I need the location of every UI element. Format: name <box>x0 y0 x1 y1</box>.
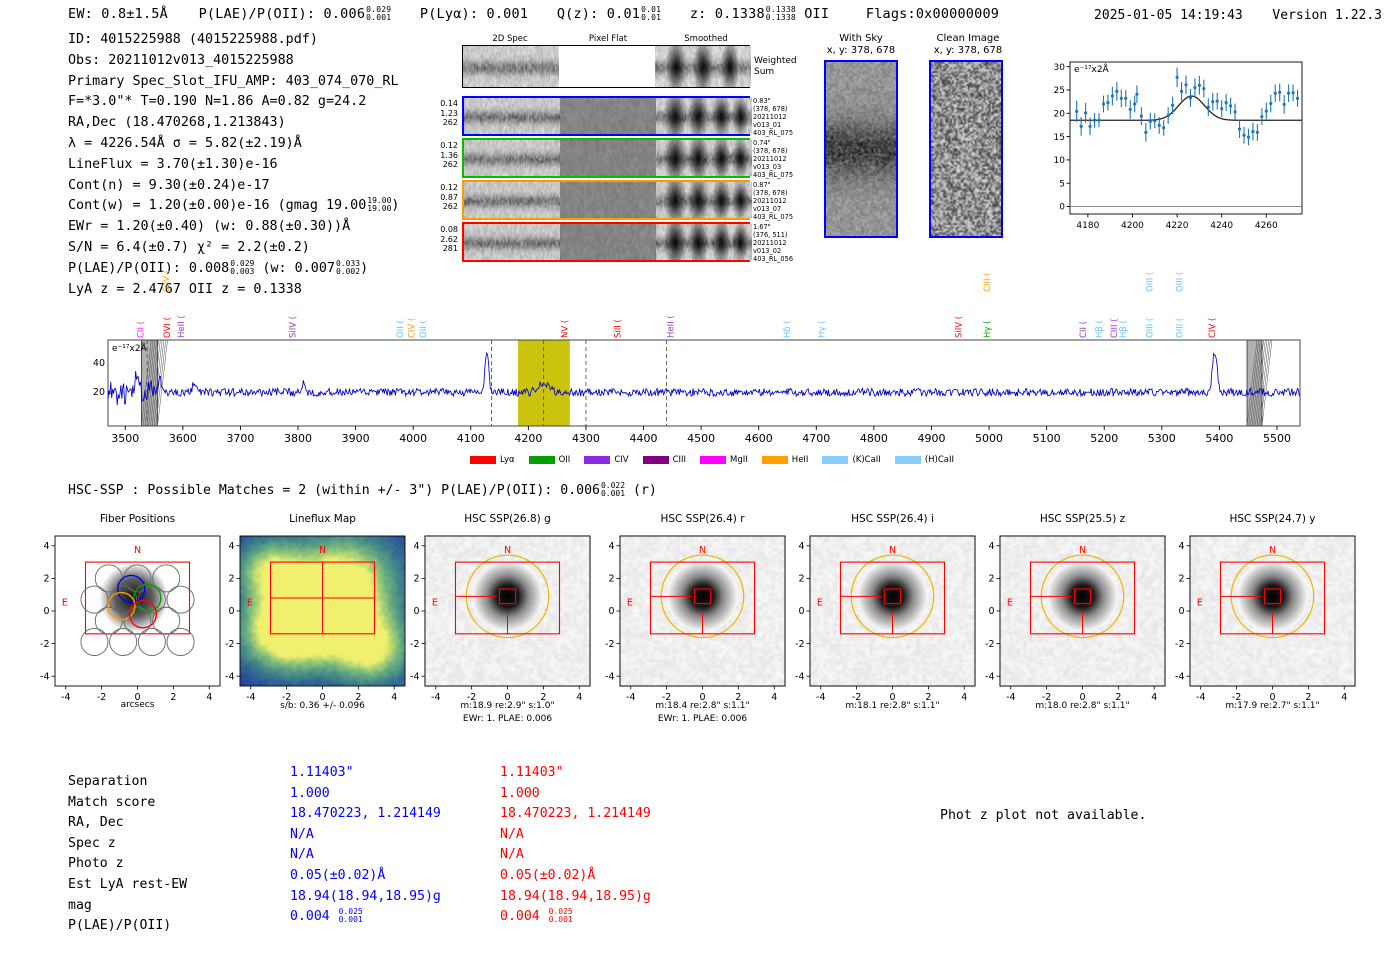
svg-text:E: E <box>817 597 823 608</box>
svg-text:4000: 4000 <box>399 432 427 445</box>
svg-text:-2: -2 <box>795 639 804 650</box>
svg-text:3800: 3800 <box>284 432 312 445</box>
header-z: z: 0.1338 <box>690 6 765 22</box>
match-col2-plae: 0.004 <box>500 909 548 924</box>
legend-label: CIII <box>673 455 686 465</box>
svg-text:HeII (: HeII ( <box>667 315 677 338</box>
photz-unavailable-note: Phot z plot not available. <box>940 808 1146 823</box>
info-lambda-sigma: λ = 4226.54Å σ = 5.82(±2.19)Å <box>68 134 399 155</box>
svg-text:4180: 4180 <box>1076 221 1099 231</box>
legend-item-heii: HeII <box>762 455 809 465</box>
spec2d-row-1-meta-4: 403_RL_075 <box>753 171 793 179</box>
svg-text:e⁻¹⁷x2Å: e⁻¹⁷x2Å <box>1074 63 1110 75</box>
svg-text:3700: 3700 <box>226 432 254 445</box>
svg-text:SiIV (: SiIV ( <box>954 316 964 338</box>
svg-text:-4: -4 <box>410 671 419 682</box>
svg-text:10: 10 <box>1054 156 1066 166</box>
svg-text:5: 5 <box>1059 179 1065 189</box>
with-sky-subtitle: x, y: 378, 678 <box>812 45 910 56</box>
svg-text:4300: 4300 <box>572 432 600 445</box>
match-col1-plae-lo: 0.001 <box>339 916 363 924</box>
svg-text:N: N <box>889 545 896 556</box>
legend-label: CIV <box>614 455 628 465</box>
spec2d-row-3 <box>462 222 750 262</box>
spec2d-row-0-meta-2: 20211012 <box>753 113 793 121</box>
stamp-plot-2: NE-4-4-2-2002244 <box>391 532 602 728</box>
spec2d-row-2-meta-1: (378, 678) <box>753 189 793 197</box>
svg-text:CIII (: CIII ( <box>983 273 993 292</box>
legend-label: HeII <box>792 455 809 465</box>
legend-swatch <box>700 456 726 464</box>
hsc-header-post: (r) <box>633 483 657 498</box>
header-plae-lo: 0.001 <box>366 14 391 22</box>
svg-text:3600: 3600 <box>169 432 197 445</box>
svg-text:N: N <box>1269 545 1276 556</box>
svg-text:-4: -4 <box>985 671 994 682</box>
svg-text:0: 0 <box>43 606 49 617</box>
svg-text:0: 0 <box>988 606 994 617</box>
svg-text:E: E <box>627 597 633 608</box>
stamp-title-1: Lineflux Map <box>230 513 415 525</box>
spec2d-row-2-meta-0: 0.87" <box>753 181 793 189</box>
match-col1-value-5: 0.05(±0.02)Å <box>290 866 385 887</box>
svg-text:-2: -2 <box>40 639 49 650</box>
svg-text:-4: -4 <box>795 671 804 682</box>
spec2d-row-1-meta-2: 20211012 <box>753 155 793 163</box>
match-col2-value-6: 18.94(18.94,18.95)g <box>500 887 651 908</box>
svg-text:4200: 4200 <box>1121 221 1144 231</box>
spec2d-row-1-meta-0: 0.74" <box>753 139 793 147</box>
svg-text:5300: 5300 <box>1148 432 1176 445</box>
header-flags: Flags:0x00000009 <box>866 6 999 22</box>
svg-text:4700: 4700 <box>802 432 830 445</box>
svg-text:E: E <box>247 597 253 608</box>
full-spectrum-plot: 2040350036003700380039004000410042004300… <box>86 268 1306 468</box>
svg-text:5100: 5100 <box>1033 432 1061 445</box>
header-plya: P(Lyα): 0.001 <box>420 6 528 22</box>
legend-label: Lyα <box>500 455 515 465</box>
stamp-plot-5: NE-4-4-2-2002244 <box>966 532 1177 728</box>
spec2d-row-3-left-2: 281 <box>428 244 458 254</box>
svg-text:40: 40 <box>93 358 105 369</box>
svg-text:OIII (: OIII ( <box>1146 272 1156 292</box>
header-summary-line: EW: 0.8±1.5Å P(LAE)/P(OII): 0.0060.0290.… <box>68 6 999 22</box>
svg-text:0: 0 <box>413 606 419 617</box>
match-row-label-4: Photo z <box>68 854 278 875</box>
spec2d-cell-r3-c1 <box>560 224 656 260</box>
svg-text:5000: 5000 <box>975 432 1003 445</box>
legend-label: OII <box>559 455 571 465</box>
spec2d-row-0-meta-3: v013_01 <box>753 121 793 129</box>
spec2d-cell-r0-c1 <box>560 98 656 134</box>
spec2d-row-2-meta-labels: 0.87"(378, 678)20211012v013_07403_RL_075 <box>753 181 793 221</box>
svg-text:E: E <box>1007 597 1013 608</box>
legend-swatch <box>762 456 788 464</box>
match-col1-value-3: N/A <box>290 825 314 846</box>
svg-text:NV (: NV ( <box>561 320 571 338</box>
spec2d-row-2-meta-3: v013_07 <box>753 205 793 213</box>
weighted-sum-line2: Sum <box>754 67 797 78</box>
spec2d-weighted-sum-label: Weighted Sum <box>754 56 797 78</box>
clean-image-title: Clean Image <box>918 33 1018 44</box>
svg-text:Hγ (: Hγ ( <box>983 321 993 338</box>
stamp-plot-6: NE-4-4-2-2002244 <box>1156 532 1367 728</box>
svg-text:-4: -4 <box>40 671 49 682</box>
match-row-label-1: Match score <box>68 793 278 814</box>
spec2d-cell-r3-c2 <box>656 224 752 260</box>
match-col1-value-2: 18.470223, 1.214149 <box>290 804 441 825</box>
spec2d-row-1 <box>462 138 750 178</box>
match-col2-value-7: 0.004 0.0250.001 <box>500 907 573 928</box>
spec2d-row-3-meta-labels: 1.67"(376, 511)20211012v013_02403_RL_056 <box>753 223 793 263</box>
svg-text:0: 0 <box>1178 606 1184 617</box>
match-col2-value-4: N/A <box>500 845 524 866</box>
spec2d-row-2-left-labels: 0.120.87262 <box>428 183 458 212</box>
stamp-caption1-2: m:18.9 re:2.9" s:1.0" <box>403 700 612 712</box>
stamp-plot-4: NE-4-4-2-2002244 <box>776 532 987 728</box>
svg-text:Hβ (: Hβ ( <box>1119 320 1129 338</box>
svg-text:2: 2 <box>43 574 49 585</box>
svg-text:2: 2 <box>1178 574 1184 585</box>
spec2d-row-0-left-1: 1.23 <box>428 109 458 119</box>
info-cont-w: Cont(w) = 1.20(±0.00)e-16 (gmag 19.0019.… <box>68 196 399 217</box>
svg-text:4: 4 <box>43 541 49 552</box>
match-col1-value-6: 18.94(18.94,18.95)g <box>290 887 441 908</box>
stamp-plot-1: NE-4-4-2-2002244 <box>206 532 417 728</box>
svg-text:2: 2 <box>608 574 614 585</box>
svg-text:4400: 4400 <box>630 432 658 445</box>
match-col1-plae: 0.004 <box>290 909 338 924</box>
stamp-xlabel-0: arcsecs <box>45 700 230 710</box>
legend-label: MgII <box>730 455 748 465</box>
svg-text:4200: 4200 <box>514 432 542 445</box>
svg-text:0: 0 <box>608 606 614 617</box>
svg-text:CIV (: CIV ( <box>1208 318 1218 338</box>
spec2d-col-title-pixelflat: Pixel Flat <box>560 34 656 44</box>
info-fwhm-throughput: F=*3.0"* T=0.190 N=1.86 A=0.82 g=24.2 <box>68 92 399 113</box>
legend-swatch <box>584 456 610 464</box>
svg-text:N: N <box>699 545 706 556</box>
info-primary-spec-slot: Primary Spec_Slot_IFU_AMP: 403_074_070_R… <box>68 72 399 93</box>
svg-text:N: N <box>319 545 326 556</box>
svg-text:4: 4 <box>228 541 234 552</box>
legend-swatch <box>643 456 669 464</box>
match-col2-plae-lo: 0.001 <box>549 916 573 924</box>
match-col2-value-1: 1.000 <box>500 784 540 805</box>
source-info-block: ID: 4015225988 (4015225988.pdf) Obs: 202… <box>68 30 399 300</box>
svg-text:4800: 4800 <box>860 432 888 445</box>
spec2d-weighted-cell-0 <box>463 46 559 87</box>
spec2d-weighted-sum-row <box>462 45 750 88</box>
match-row-label-7: P(LAE)/P(OII) <box>68 916 278 937</box>
svg-text:-2: -2 <box>605 639 614 650</box>
svg-text:E: E <box>1197 597 1203 608</box>
svg-text:OII (: OII ( <box>419 320 429 338</box>
match-col2-value-0: 1.11403" <box>500 763 564 784</box>
header-version: Version 1.22.3 <box>1272 8 1382 23</box>
spec2d-row-3-left-labels: 0.082.62281 <box>428 225 458 254</box>
spec2d-cell-r1-c2 <box>656 140 752 176</box>
svg-text:SiIV (: SiIV ( <box>162 270 172 292</box>
svg-text:4240: 4240 <box>1210 221 1233 231</box>
svg-text:5400: 5400 <box>1205 432 1233 445</box>
svg-text:OIII (: OIII ( <box>1176 318 1186 338</box>
legend-swatch <box>895 456 921 464</box>
spec2d-row-1-meta-1: (378, 678) <box>753 147 793 155</box>
info-sn-chi2: S/N = 6.4(±0.7) χ² = 2.2(±0.2) <box>68 238 399 259</box>
svg-text:Hβ (: Hβ ( <box>1095 320 1105 338</box>
info-cont-n: Cont(n) = 9.30(±0.24)e-17 <box>68 176 399 197</box>
emission-line-zoom-plot: 05101520253041804200422042404260e⁻¹⁷x2Å <box>1036 48 1308 244</box>
svg-text:4600: 4600 <box>745 432 773 445</box>
svg-text:N: N <box>134 545 141 556</box>
spec2d-row-1-left-1: 1.36 <box>428 151 458 161</box>
stamp-title-2: HSC SSP(26.8) g <box>415 513 600 525</box>
spec2d-cell-r0-c0 <box>464 98 560 134</box>
match-col1-value-0: 1.11403" <box>290 763 354 784</box>
svg-text:HeII (: HeII ( <box>177 315 187 338</box>
spec2d-cell-r2-c0 <box>464 182 560 218</box>
legend-item-hcaii: (H)CaII <box>895 455 954 465</box>
svg-text:3900: 3900 <box>342 432 370 445</box>
svg-text:3500: 3500 <box>111 432 139 445</box>
header-plae-label: P(LAE)/P(OII): <box>199 6 316 22</box>
info-cont-w-post: ) <box>391 198 399 213</box>
header-qz-lo: 0.01 <box>641 14 661 22</box>
info-obs: Obs: 20211012v013_4015225988 <box>68 51 399 72</box>
spec2d-cell-r0-c2 <box>656 98 752 134</box>
svg-text:30: 30 <box>1054 63 1066 73</box>
svg-text:-2: -2 <box>410 639 419 650</box>
spec2d-row-3-left-1: 2.62 <box>428 235 458 245</box>
clean-image <box>929 60 1003 238</box>
svg-text:0: 0 <box>798 606 804 617</box>
spec2d-row-2 <box>462 180 750 220</box>
spec2d-row-1-left-2: 262 <box>428 160 458 170</box>
match-row-label-3: Spec z <box>68 834 278 855</box>
svg-text:0: 0 <box>1059 203 1065 213</box>
svg-text:-2: -2 <box>985 639 994 650</box>
header-plae-value: 0.006 <box>324 6 366 22</box>
info-cont-w-pre: Cont(w) = 1.20(±0.00)e-16 (gmag 19.00 <box>68 198 366 213</box>
info-radec: RA,Dec (18.470268,1.213843) <box>68 113 399 134</box>
svg-text:E: E <box>432 597 438 608</box>
hsc-header-pre: HSC-SSP : Possible Matches = 2 (within +… <box>68 483 600 498</box>
match-col2-value-2: 18.470223, 1.214149 <box>500 804 651 825</box>
spec2d-row-1-meta-3: v013_03 <box>753 163 793 171</box>
svg-text:N: N <box>504 545 511 556</box>
svg-text:4900: 4900 <box>917 432 945 445</box>
legend-item-oii: OII <box>529 455 571 465</box>
spec2d-row-1-left-labels: 0.121.36262 <box>428 141 458 170</box>
svg-text:4: 4 <box>988 541 994 552</box>
legend-item-civ: CIV <box>584 455 628 465</box>
svg-text:2: 2 <box>413 574 419 585</box>
info-cont-w-lo: 19.00 <box>367 205 391 213</box>
stamp-title-0: Fiber Positions <box>45 513 230 525</box>
svg-text:5500: 5500 <box>1263 432 1291 445</box>
spec2d-cell-r1-c1 <box>560 140 656 176</box>
svg-text:Hδ (: Hδ ( <box>783 320 793 338</box>
svg-text:2: 2 <box>228 574 234 585</box>
with-sky-image <box>824 60 898 238</box>
legend-swatch <box>529 456 555 464</box>
svg-text:-4: -4 <box>225 671 234 682</box>
info-ewr: EWr = 1.20(±0.40) (w: 0.88(±0.30))Å <box>68 217 399 238</box>
match-row-label-6: mag <box>68 896 278 917</box>
spec2d-row-0 <box>462 96 750 136</box>
clean-image-subtitle: x, y: 378, 678 <box>918 45 1018 56</box>
spec2d-cell-r2-c1 <box>560 182 656 218</box>
svg-text:SiII (: SiII ( <box>614 319 624 338</box>
legend-swatch <box>470 456 496 464</box>
legend-label: (K)CaII <box>852 455 880 465</box>
spectrum-legend: LyαOIICIVCIIIMgIIHeII(K)CaII(H)CaII <box>470 455 968 465</box>
svg-text:CII (: CII ( <box>137 321 147 338</box>
svg-text:OIII (: OIII ( <box>1146 318 1156 338</box>
svg-text:2: 2 <box>988 574 994 585</box>
match-col2-value-3: N/A <box>500 825 524 846</box>
stamp-title-3: HSC SSP(26.4) r <box>610 513 795 525</box>
svg-text:4260: 4260 <box>1255 221 1278 231</box>
match-row-label-5: Est LyA rest-EW <box>68 875 278 896</box>
svg-text:25: 25 <box>1054 86 1065 96</box>
hsc-header-lo: 0.001 <box>601 490 625 498</box>
stamp-caption2-2: EWr: 1. PLAE: 0.006 <box>403 713 612 725</box>
spec2d-row-0-meta-4: 403_RL_075 <box>753 129 793 137</box>
svg-text:-2: -2 <box>225 639 234 650</box>
spec2d-row-2-left-1: 0.87 <box>428 193 458 203</box>
spec2d-row-3-meta-3: v013_02 <box>753 247 793 255</box>
match-col1-value-1: 1.000 <box>290 784 330 805</box>
stamp-plot-0: NE-4-4-2-2002244 <box>21 532 232 728</box>
match-col1-value-4: N/A <box>290 845 314 866</box>
legend-item-lyα: Lyα <box>470 455 515 465</box>
svg-text:Hγ (: Hγ ( <box>817 321 827 338</box>
spec2d-weighted-cell-2 <box>655 46 751 87</box>
svg-text:CIV (: CIV ( <box>407 318 417 338</box>
spec2d-col-title-2dspec: 2D Spec <box>462 34 558 44</box>
svg-text:SiIV (: SiIV ( <box>289 316 299 338</box>
spec2d-row-0-left-labels: 0.141.23262 <box>428 99 458 128</box>
svg-text:CII (: CII ( <box>1079 321 1089 338</box>
svg-text:-4: -4 <box>605 671 614 682</box>
svg-text:OIII (: OIII ( <box>1176 272 1186 292</box>
header-z-kind: OII <box>804 6 829 22</box>
header-z-lo: 0.1338 <box>766 14 796 22</box>
svg-text:OVI (: OVI ( <box>163 317 173 338</box>
stamp-title-5: HSC SSP(25.5) z <box>990 513 1175 525</box>
spec2d-row-0-meta-labels: 0.83"(378, 678)20211012v013_01403_RL_075 <box>753 97 793 137</box>
svg-text:4: 4 <box>413 541 419 552</box>
spec2d-row-0-meta-1: (378, 678) <box>753 105 793 113</box>
stamp-plot-3: NE-4-4-2-2002244 <box>586 532 797 728</box>
svg-text:4: 4 <box>798 541 804 552</box>
spec2d-cell-r2-c2 <box>656 182 752 218</box>
svg-text:5200: 5200 <box>1090 432 1118 445</box>
match-row-label-2: RA, Dec <box>68 813 278 834</box>
svg-text:4100: 4100 <box>457 432 485 445</box>
svg-text:4: 4 <box>1178 541 1184 552</box>
legend-item-kcaii: (K)CaII <box>822 455 880 465</box>
legend-swatch <box>822 456 848 464</box>
spec2d-row-3-meta-4: 403_RL_056 <box>753 255 793 263</box>
with-sky-title: With Sky <box>812 33 910 44</box>
svg-text:e⁻¹⁷x2Å: e⁻¹⁷x2Å <box>112 342 148 354</box>
spec2d-row-2-left-0: 0.12 <box>428 183 458 193</box>
spec2d-row-0-meta-0: 0.83" <box>753 97 793 105</box>
weighted-sum-line1: Weighted <box>754 56 797 67</box>
svg-text:E: E <box>62 597 68 608</box>
spec2d-row-2-meta-2: 20211012 <box>753 197 793 205</box>
spec2d-row-0-left-0: 0.14 <box>428 99 458 109</box>
spec2d-row-2-left-2: 262 <box>428 202 458 212</box>
svg-text:4500: 4500 <box>687 432 715 445</box>
svg-text:N: N <box>1079 545 1086 556</box>
svg-text:4220: 4220 <box>1166 221 1189 231</box>
info-id: ID: 4015225988 (4015225988.pdf) <box>68 30 399 51</box>
svg-text:20: 20 <box>1054 109 1066 119</box>
header-timestamp-version: 2025-01-05 14:19:43 Version 1.22.3 <box>1094 8 1382 23</box>
spec2d-cell-r3-c0 <box>464 224 560 260</box>
spec2d-row-2-meta-4: 403_RL_075 <box>753 213 793 221</box>
spec2d-row-1-left-0: 0.12 <box>428 141 458 151</box>
spec2d-row-0-left-2: 262 <box>428 118 458 128</box>
hsc-ssp-header: HSC-SSP : Possible Matches = 2 (within +… <box>68 482 657 498</box>
stamp-title-6: HSC SSP(24.7) y <box>1180 513 1365 525</box>
svg-text:-2: -2 <box>1175 639 1184 650</box>
header-datetime: 2025-01-05 14:19:43 <box>1094 8 1243 23</box>
spec2d-row-3-left-0: 0.08 <box>428 225 458 235</box>
legend-item-ciii: CIII <box>643 455 686 465</box>
svg-text:OII (: OII ( <box>396 320 406 338</box>
svg-text:20: 20 <box>93 387 105 398</box>
stamp-title-4: HSC SSP(26.4) i <box>800 513 985 525</box>
svg-text:4: 4 <box>608 541 614 552</box>
spec2d-row-3-meta-2: 20211012 <box>753 239 793 247</box>
spec2d-row-3-meta-0: 1.67" <box>753 223 793 231</box>
svg-text:-4: -4 <box>1175 671 1184 682</box>
stamp-caption1-6: m:17.9 re:2.7" s:1.1" <box>1168 700 1377 712</box>
svg-text:15: 15 <box>1054 133 1065 143</box>
spec2d-weighted-cell-1 <box>559 46 655 87</box>
match-row-label-0: Separation <box>68 772 278 793</box>
legend-item-mgii: MgII <box>700 455 748 465</box>
svg-text:2: 2 <box>798 574 804 585</box>
spec2d-row-1-meta-labels: 0.74"(378, 678)20211012v013_03403_RL_075 <box>753 139 793 179</box>
spec2d-col-title-smoothed: Smoothed <box>658 34 754 44</box>
header-qz: Q(z): 0.01 <box>557 6 640 22</box>
svg-text:0: 0 <box>228 606 234 617</box>
spec2d-cell-r1-c0 <box>464 140 560 176</box>
match-col1-value-7: 0.004 0.0250.001 <box>290 907 363 928</box>
info-lineflux: LineFlux = 3.70(±1.30)e-16 <box>68 155 399 176</box>
legend-label: (H)CaII <box>925 455 954 465</box>
spec2d-row-3-meta-1: (376, 511) <box>753 231 793 239</box>
header-ew: EW: 0.8±1.5Å <box>68 6 168 22</box>
match-col2-value-5: 0.05(±0.02)Å <box>500 866 595 887</box>
